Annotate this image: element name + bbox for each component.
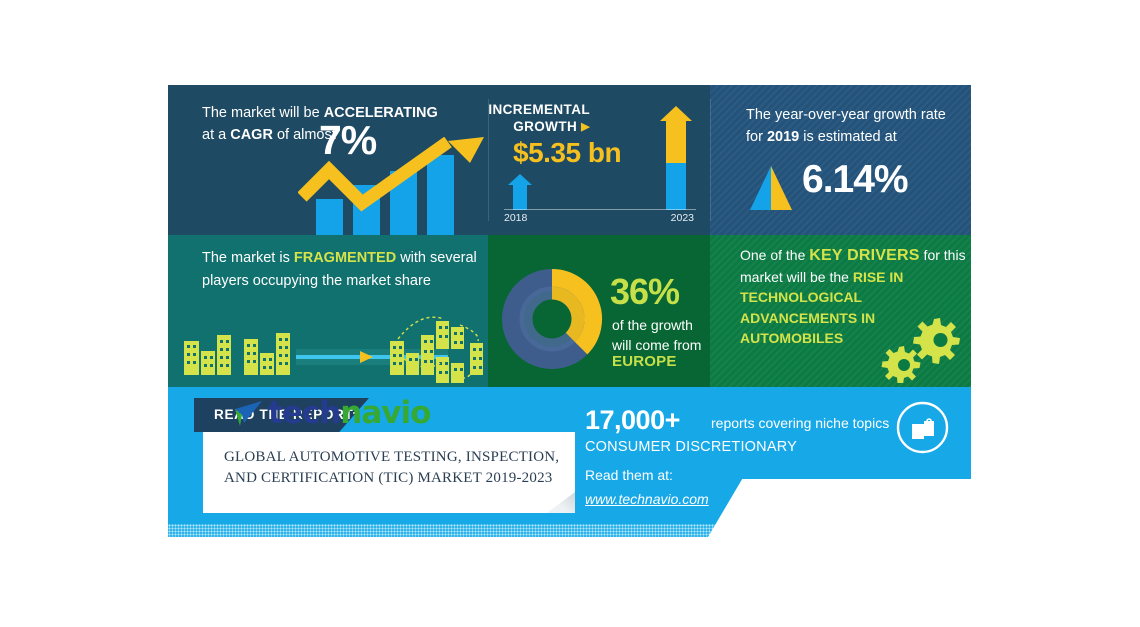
yoy-year: 2019 (767, 129, 799, 145)
inc-title-l1: INCREMENTAL (488, 102, 590, 117)
logo-word-tech: tech (268, 395, 340, 431)
shopping-bag-icon (896, 401, 949, 454)
middle-row: The market is FRAGMENTED with several pl… (168, 235, 971, 387)
report-category: CONSUMER DISCRETIONARY (585, 439, 797, 455)
reports-caption: reports covering niche topics (711, 415, 889, 431)
cagr-text-2: at a (202, 127, 230, 143)
footer-row: READ THE REPORT: GLOBAL AUTOMOTIVE TESTI… (168, 387, 971, 537)
bar-series (316, 155, 454, 235)
panel-yoy-growth: The year-over-year growth rate for 2019 … (710, 85, 971, 235)
read-them-at-label: Read them at: (585, 467, 673, 483)
drv-text-2: for this (920, 247, 966, 263)
incremental-year-end: 2023 (671, 212, 694, 224)
yoy-text-3: is estimated at (799, 129, 897, 145)
fragmented-statement: The market is FRAGMENTED with several pl… (202, 247, 482, 293)
technavio-arrow-icon (232, 397, 265, 430)
bar-2023 (660, 106, 692, 210)
technavio-url-link[interactable]: www.technavio.com (585, 491, 709, 507)
city-illustration (168, 313, 488, 387)
drv-keyword: KEY DRIVERS (809, 247, 919, 264)
reports-count: 17,000+ (585, 405, 680, 436)
europe-share-region: EUROPE (612, 353, 677, 370)
cagr-label: CAGR (230, 127, 273, 143)
panel-europe-share: 36% of the growth will come from EUROPE (488, 235, 710, 387)
cagr-value: 7% (319, 117, 376, 164)
technavio-logo-plate (708, 479, 971, 537)
panel-key-drivers: One of the KEY DRIVERS for this market w… (710, 235, 971, 387)
gears-icon (879, 313, 961, 383)
europe-share-percent: 36% (610, 271, 679, 313)
infographic-root: The market will be ACCELERATING at a CAG… (168, 85, 971, 537)
panel-cagr: The market will be ACCELERATING at a CAG… (168, 85, 488, 235)
incremental-growth-value: $5.35 bn (513, 137, 621, 169)
logo-word-navio: navio (340, 395, 430, 431)
drv-text-3: market will be the (740, 269, 853, 285)
play-triangle-icon: ▶ (581, 119, 590, 136)
technavio-logo: technavio (232, 395, 430, 431)
donut-chart (501, 268, 603, 370)
triangle-icon (748, 166, 794, 210)
report-title-card[interactable]: GLOBAL AUTOMOTIVE TESTING, INSPECTION, A… (203, 432, 575, 513)
cagr-text-1: The market will be (202, 105, 324, 121)
incremental-year-start: 2018 (504, 212, 527, 224)
europe-share-caption: of the growth will come from (612, 315, 710, 355)
drv-text-1: One of the (740, 247, 809, 263)
buildings-left (184, 333, 290, 375)
yoy-text-1: The year-over-year growth rate (746, 107, 946, 123)
frag-text-1: The market is (202, 250, 294, 266)
inc-title-l2: GROWTH (513, 119, 577, 134)
incremental-axis (504, 209, 696, 210)
bar-2018 (508, 174, 532, 210)
panel-incremental-growth: INCREMENTAL GROWTH▶ $5.35 bn 2018 2023 (488, 85, 710, 235)
panel-fragmented: The market is FRAGMENTED with several pl… (168, 235, 488, 387)
frag-text-3: players occupying the market share (202, 273, 431, 289)
report-title: GLOBAL AUTOMOTIVE TESTING, INSPECTION, A… (224, 447, 564, 489)
top-row: The market will be ACCELERATING at a CAG… (168, 85, 971, 235)
yoy-text-2: for (746, 129, 767, 145)
yoy-value: 6.14% (802, 158, 908, 202)
yoy-statement: The year-over-year growth rate for 2019 … (746, 104, 961, 148)
frag-text-2: with several (396, 250, 477, 266)
frag-keyword: FRAGMENTED (294, 250, 396, 266)
incremental-growth-title: INCREMENTAL GROWTH▶ (488, 101, 590, 136)
